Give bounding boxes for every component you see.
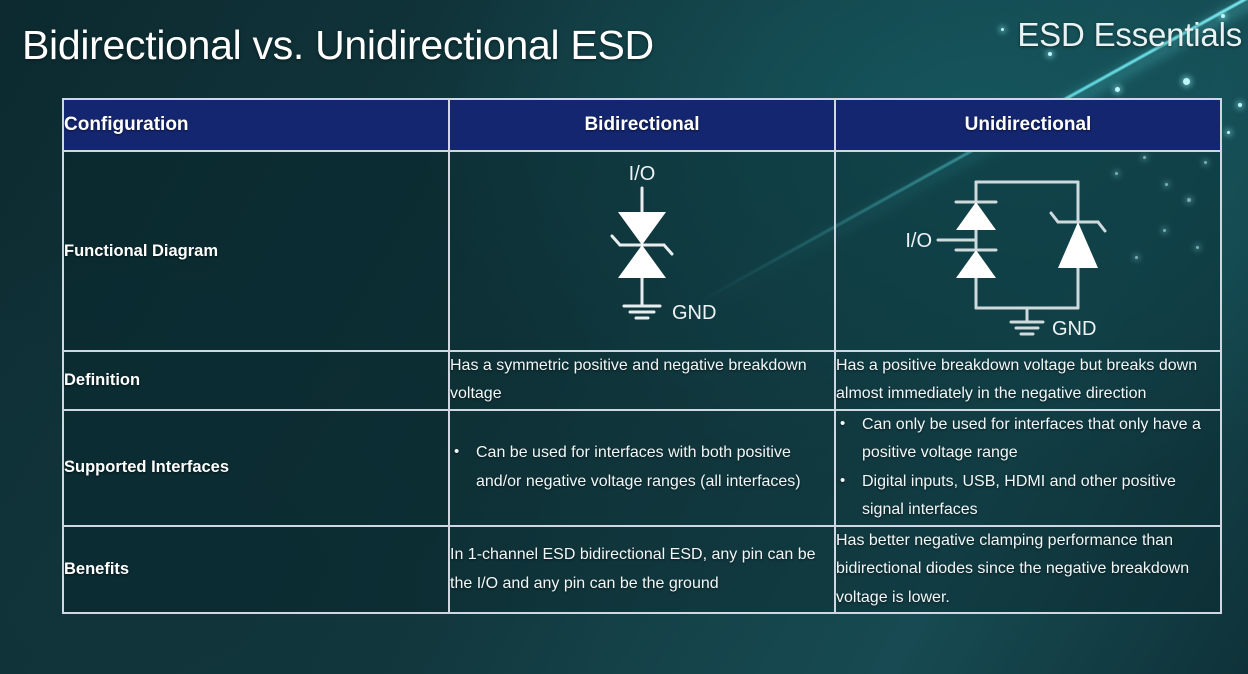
star-dot (1183, 78, 1190, 85)
cell-bidirectional-supported-interfaces: Can be used for interfaces with both pos… (449, 410, 835, 526)
cell-unidirectional-definition: Has a positive breakdown voltage but bre… (835, 351, 1221, 410)
table-row: Supported Interfaces Can be used for int… (63, 410, 1221, 526)
row-label-benefits: Benefits (63, 526, 449, 613)
row-label-supported-interfaces: Supported Interfaces (63, 410, 449, 526)
list-item: Digital inputs, USB, HDMI and other posi… (836, 468, 1220, 525)
table-row: Definition Has a symmetric positive and … (63, 351, 1221, 410)
table-row: Functional Diagram (63, 151, 1221, 351)
column-header-configuration: Configuration (63, 99, 449, 151)
cell-unidirectional-benefits: Has better negative clamping performance… (835, 526, 1221, 613)
bullet-list: Can be used for interfaces with both pos… (450, 439, 834, 496)
column-header-bidirectional: Bidirectional (449, 99, 835, 151)
list-item: Can be used for interfaces with both pos… (450, 439, 834, 496)
column-header-unidirectional: Unidirectional (835, 99, 1221, 151)
row-label-definition: Definition (63, 351, 449, 410)
table-header-row: Configuration Bidirectional Unidirection… (63, 99, 1221, 151)
star-dot (1238, 103, 1242, 107)
star-dot (1115, 87, 1120, 92)
diagram-label-io: I/O (629, 163, 656, 185)
brand-label: ESD Essentials (1017, 16, 1242, 54)
cell-bidirectional-diagram: I/O GND (449, 151, 835, 351)
bullet-list: Can only be used for interfaces that onl… (836, 411, 1220, 525)
diagram-label-gnd: GND (672, 302, 716, 324)
table-row: Benefits In 1-channel ESD bidirectional … (63, 526, 1221, 613)
page-title: Bidirectional vs. Unidirectional ESD (22, 22, 654, 69)
row-label-functional-diagram: Functional Diagram (63, 151, 449, 351)
list-item: Can only be used for interfaces that onl… (836, 411, 1220, 468)
diagram-label-io: I/O (905, 230, 932, 252)
cell-unidirectional-diagram: I/O GND (835, 151, 1221, 351)
slide-canvas: Bidirectional vs. Unidirectional ESD ESD… (0, 0, 1248, 674)
cell-bidirectional-benefits: In 1-channel ESD bidirectional ESD, any … (449, 526, 835, 613)
bidirectional-esd-schematic-icon: I/O GND (532, 160, 752, 342)
diagram-label-gnd: GND (1052, 318, 1096, 340)
star-dot (1001, 28, 1004, 31)
star-dot (1227, 131, 1230, 134)
comparison-table: Configuration Bidirectional Unidirection… (62, 98, 1222, 614)
unidirectional-esd-schematic-icon: I/O GND (898, 160, 1158, 342)
cell-bidirectional-definition: Has a symmetric positive and negative br… (449, 351, 835, 410)
cell-unidirectional-supported-interfaces: Can only be used for interfaces that onl… (835, 410, 1221, 526)
